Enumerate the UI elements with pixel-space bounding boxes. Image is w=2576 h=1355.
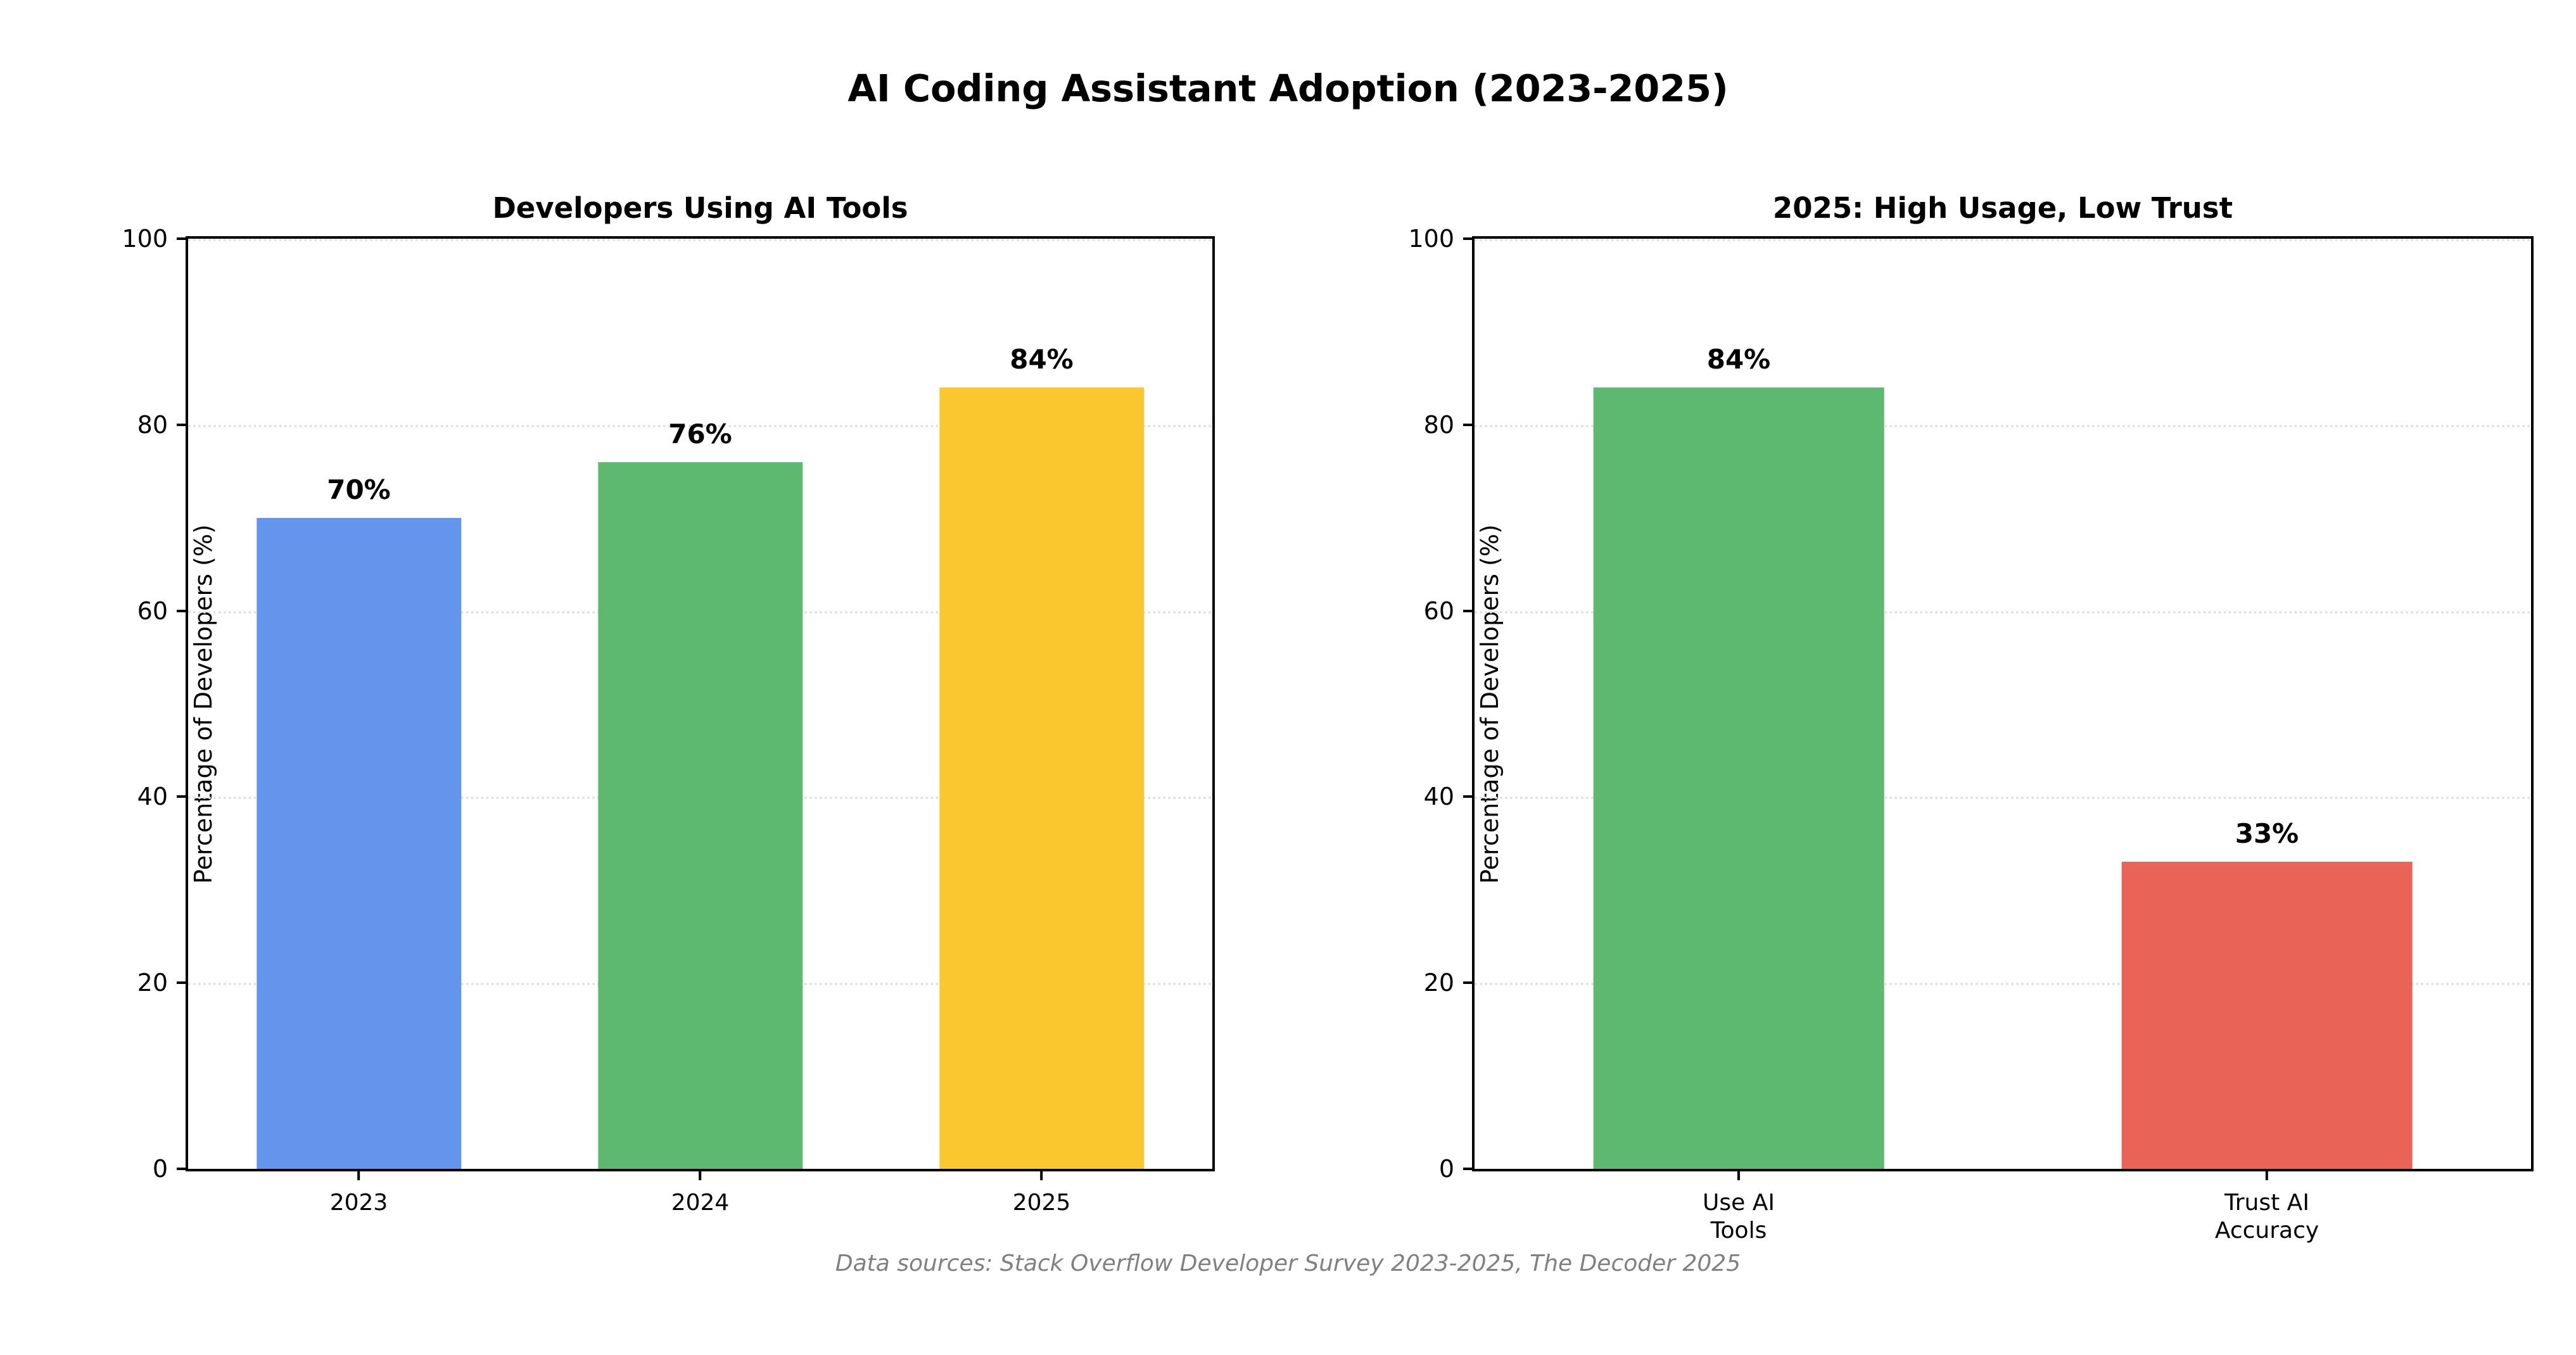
x-axis-tick: Use AI Tools xyxy=(1703,1169,1775,1245)
y-axis-tick-mark xyxy=(1463,237,1475,240)
chart-panel-developers-using-ai-tools: Developers Using AI Tools Percentage of … xyxy=(186,236,1215,1171)
y-axis-tick: 80 xyxy=(137,413,188,437)
x-axis-tick: 2023 xyxy=(330,1169,388,1217)
y-axis-tick: 60 xyxy=(1424,599,1475,623)
x-axis-tick-label: 2023 xyxy=(330,1189,388,1217)
subplot-title-left: Developers Using AI Tools xyxy=(188,191,1212,225)
y-axis-tick-label: 60 xyxy=(137,599,168,623)
bar-value-label: 70% xyxy=(327,474,391,505)
x-axis-tick: Trust AI Accuracy xyxy=(2215,1169,2319,1245)
y-axis-tick: 80 xyxy=(1424,413,1475,437)
x-axis-tick-label: 2025 xyxy=(1013,1189,1071,1217)
bar-value-label: 84% xyxy=(1707,344,1771,375)
bar[interactable]: 84% xyxy=(939,388,1144,1169)
y-axis-tick-mark xyxy=(177,424,188,426)
y-axis-tick: 0 xyxy=(1439,1157,1475,1181)
y-axis-tick-label: 60 xyxy=(1424,599,1454,623)
y-axis-tick-mark xyxy=(1463,981,1475,984)
x-axis-tick: 2025 xyxy=(1013,1169,1071,1217)
y-axis-tick: 100 xyxy=(122,227,188,251)
y-axis-tick-label: 100 xyxy=(122,227,168,251)
y-axis-tick-mark xyxy=(177,1168,188,1170)
y-axis-tick-label: 40 xyxy=(137,785,168,809)
y-axis-tick: 20 xyxy=(137,971,188,995)
y-axis-tick: 20 xyxy=(1424,971,1475,995)
y-axis-tick-label: 20 xyxy=(1424,971,1454,995)
x-axis-tick-mark xyxy=(1737,1169,1740,1180)
x-axis-tick-mark xyxy=(2266,1169,2268,1180)
bar[interactable]: 70% xyxy=(257,518,461,1169)
x-axis-tick-label: Use AI Tools xyxy=(1703,1189,1775,1245)
y-axis-tick-label: 40 xyxy=(1424,785,1454,809)
y-axis-tick: 60 xyxy=(137,599,188,623)
y-axis-tick-mark xyxy=(177,610,188,612)
y-axis-tick-label: 80 xyxy=(1424,413,1454,437)
x-axis-tick-mark xyxy=(358,1169,360,1180)
y-axis-tick-mark xyxy=(177,237,188,240)
y-axis-tick-mark xyxy=(1463,1168,1475,1170)
y-axis-tick-mark xyxy=(1463,795,1475,798)
x-axis-tick: 2024 xyxy=(671,1169,730,1217)
bar[interactable]: 33% xyxy=(2122,862,2413,1169)
y-axis-tick-label: 0 xyxy=(153,1157,168,1181)
y-axis-tick-label: 20 xyxy=(137,971,168,995)
bar-value-label: 33% xyxy=(2235,818,2299,849)
bar-value-label: 84% xyxy=(1010,344,1074,375)
bar[interactable]: 76% xyxy=(598,462,803,1169)
y-axis-tick-mark xyxy=(1463,610,1475,612)
x-axis-tick-label: Trust AI Accuracy xyxy=(2215,1189,2319,1245)
y-axis-tick: 40 xyxy=(137,785,188,809)
subplot-title-right: 2025: High Usage, Low Trust xyxy=(1475,191,2531,225)
y-axis-label-right: Percentage of Developers (%) xyxy=(1476,524,1504,884)
bar-value-label: 76% xyxy=(668,419,732,450)
x-axis-tick-label: 2024 xyxy=(671,1189,730,1217)
bar[interactable]: 84% xyxy=(1594,388,1884,1169)
y-axis-label-left: Percentage of Developers (%) xyxy=(189,524,217,884)
y-axis-tick-mark xyxy=(177,981,188,984)
y-axis-tick: 40 xyxy=(1424,785,1475,809)
y-axis-tick-label: 0 xyxy=(1439,1157,1454,1181)
y-axis-tick-label: 80 xyxy=(137,413,168,437)
gridline xyxy=(188,239,1212,241)
y-axis-tick-label: 100 xyxy=(1408,227,1454,251)
x-axis-tick-mark xyxy=(1041,1169,1043,1180)
figure-title: AI Coding Assistant Adoption (2023-2025) xyxy=(0,66,2576,110)
figure-canvas: AI Coding Assistant Adoption (2023-2025)… xyxy=(0,0,2576,1355)
y-axis-tick: 0 xyxy=(153,1157,188,1181)
y-axis-tick: 100 xyxy=(1408,227,1475,251)
chart-panel-high-usage-low-trust: 2025: High Usage, Low Trust Percentage o… xyxy=(1472,236,2534,1171)
data-source-note: Data sources: Stack Overflow Developer S… xyxy=(0,1251,2576,1276)
gridline xyxy=(1475,239,2531,241)
x-axis-tick-mark xyxy=(699,1169,702,1180)
y-axis-tick-mark xyxy=(1463,424,1475,426)
y-axis-tick-mark xyxy=(177,795,188,798)
